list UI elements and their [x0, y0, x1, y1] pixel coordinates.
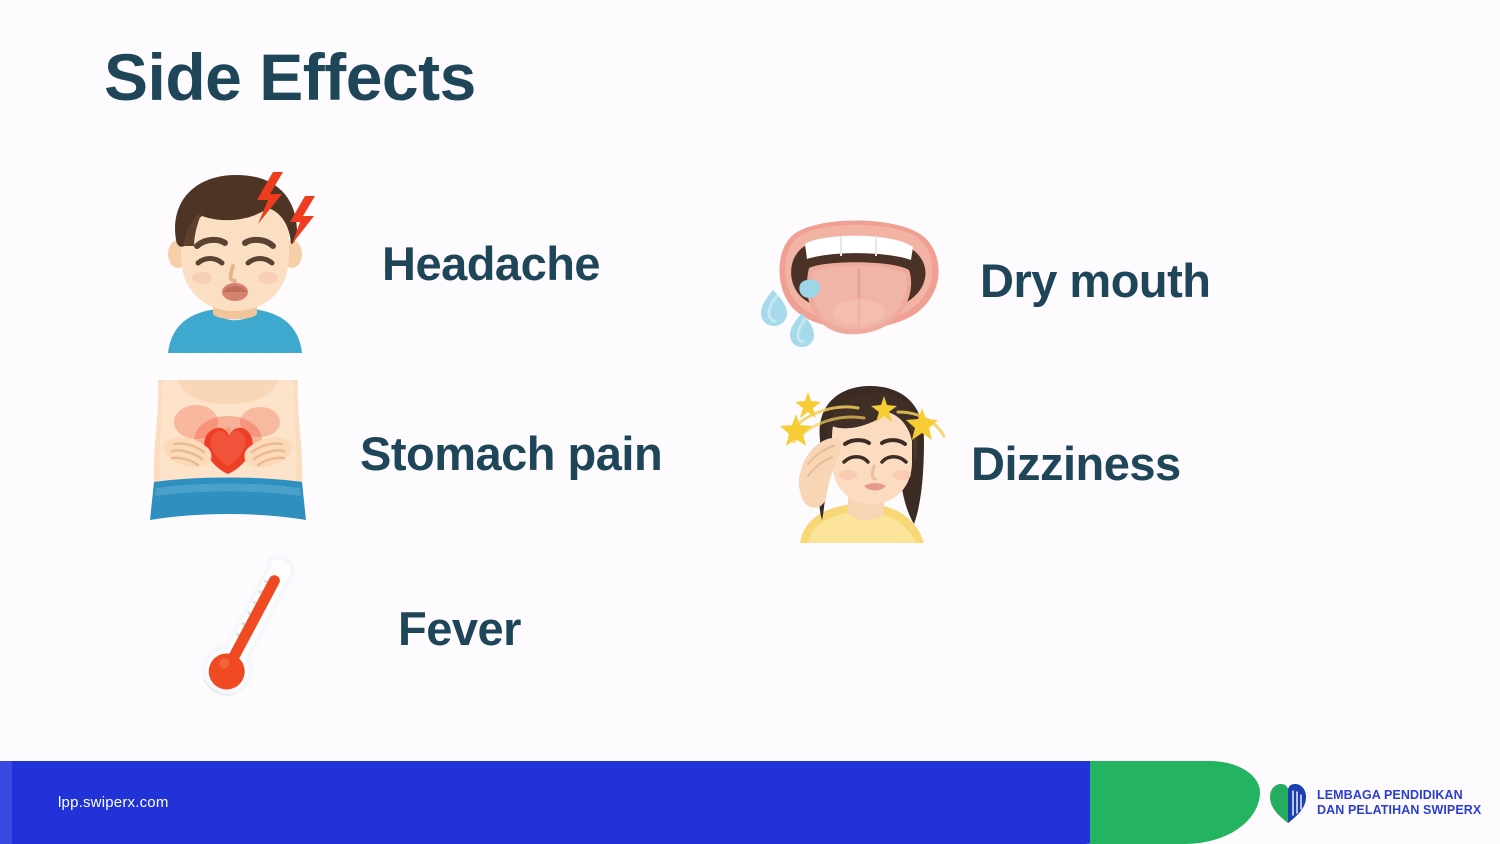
open-mouth-tongue-illustration [745, 208, 960, 353]
dizzy-woman-illustration [778, 378, 963, 548]
side-effect-item-fever: Fever [185, 552, 521, 705]
footer-logo-line1: LEMBAGA PENDIDIKAN [1317, 788, 1481, 803]
footer-band-edge-accent [0, 761, 12, 844]
side-effect-label-dry-mouth: Dry mouth [980, 253, 1211, 308]
headache-person-illustration [140, 168, 330, 358]
footer-website-url[interactable]: lpp.swiperx.com [58, 761, 169, 844]
footer-blue-band [0, 761, 1175, 844]
swiperx-heart-book-logo-icon [1268, 781, 1308, 825]
slide-footer: lpp.swiperx.com LEMBAGA PENDIDIKAN DAN P… [0, 761, 1500, 844]
slide-root: Side Effects [0, 0, 1500, 844]
side-effect-item-stomach-pain: Stomach pain [138, 378, 662, 528]
side-effect-label-headache: Headache [382, 236, 600, 291]
side-effect-item-dry-mouth: Dry mouth [745, 208, 1211, 353]
thermometer-illustration [185, 552, 320, 705]
footer-green-accent-shape [1090, 761, 1260, 844]
side-effect-label-stomach-pain: Stomach pain [360, 426, 662, 481]
footer-logo-text: LEMBAGA PENDIDIKAN DAN PELATIHAN SWIPERX [1317, 788, 1481, 818]
page-title: Side Effects [104, 44, 476, 110]
side-effect-item-headache: Headache [140, 168, 600, 358]
side-effect-label-fever: Fever [398, 601, 521, 656]
footer-logo-line2: DAN PELATIHAN SWIPERX [1317, 803, 1481, 818]
side-effect-label-dizziness: Dizziness [971, 436, 1181, 491]
footer-logo: LEMBAGA PENDIDIKAN DAN PELATIHAN SWIPERX [1268, 761, 1481, 844]
side-effect-item-dizziness: Dizziness [778, 378, 1181, 548]
abdomen-pain-illustration [138, 378, 318, 528]
